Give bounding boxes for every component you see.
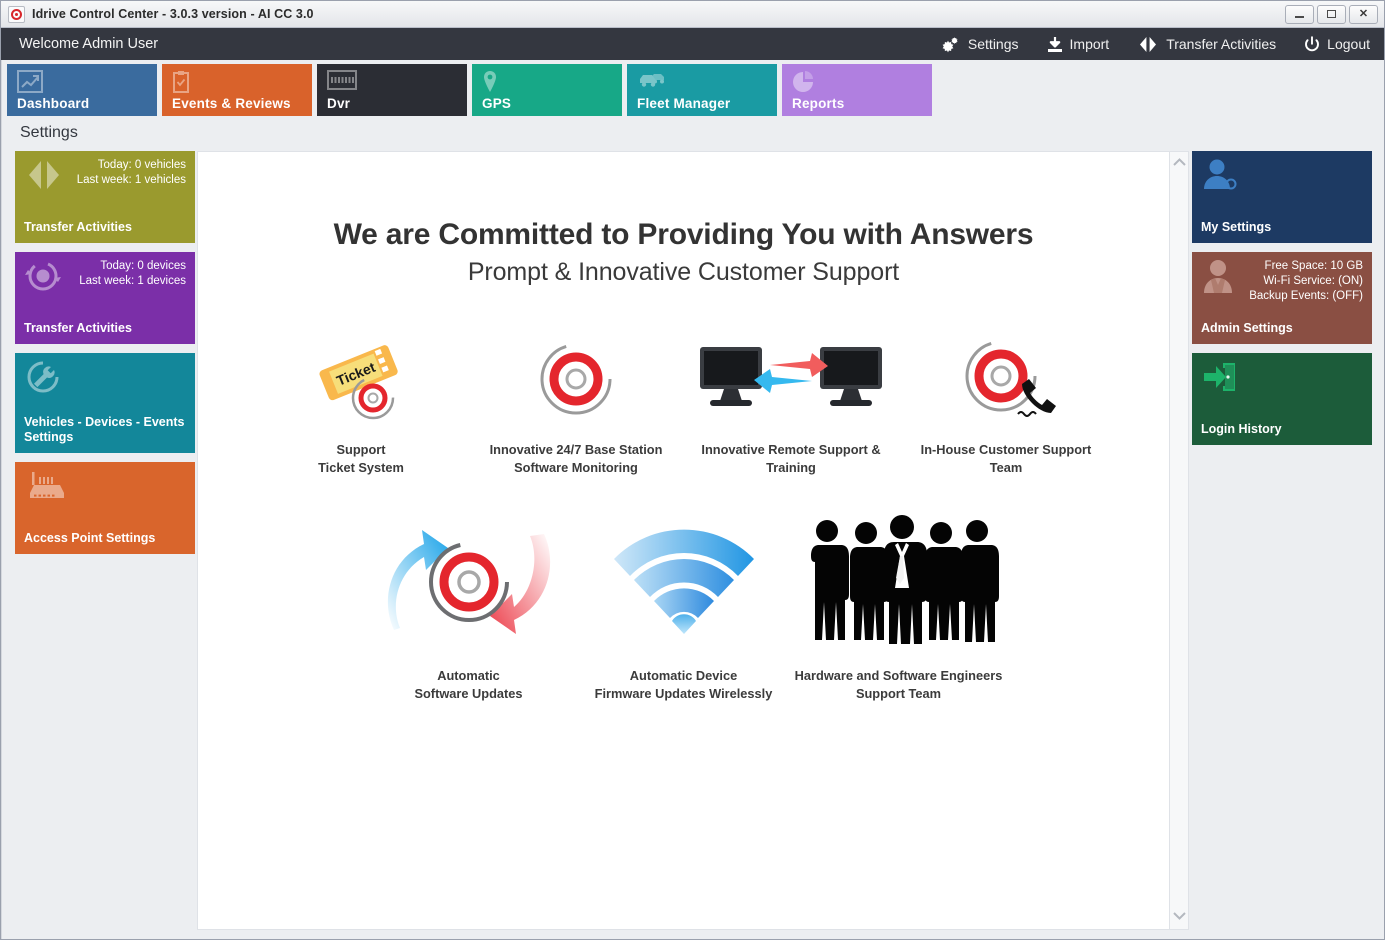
welcome-message: Welcome Admin User <box>19 36 158 52</box>
stat-line: Last week: 1 devices <box>79 274 186 289</box>
wrench-icon <box>24 360 62 399</box>
caption-line-2: Training <box>701 459 880 477</box>
feature-caption: Innovative 24/7 Base Station Software Mo… <box>490 441 663 477</box>
update-arrows-ring-icon <box>374 507 564 657</box>
sidebar-item-label: Transfer Activities <box>24 211 186 235</box>
tab-events-reviews[interactable]: Events & Reviews <box>162 64 312 116</box>
caption-line-1: Hardware and Software Engineers <box>795 667 1003 685</box>
feature-automatic-firmware-updates: Automatic Device Firmware Updates Wirele… <box>576 507 791 703</box>
transfer-arrows-icon <box>1137 36 1159 53</box>
stat-line: Wi-Fi Service: (ON) <box>1249 274 1363 289</box>
header-settings-label: Settings <box>968 36 1019 52</box>
header-settings-button[interactable]: Settings <box>941 36 1019 53</box>
tab-gps[interactable]: GPS <box>472 64 622 116</box>
tab-dashboard-label: Dashboard <box>17 96 89 111</box>
transfer-arrows-icon <box>24 158 64 197</box>
sidebar-item-stats: Today: 0 devices Last week: 1 devices <box>79 259 186 289</box>
minimize-button[interactable] <box>1285 5 1314 24</box>
remote-monitors-icon <box>696 327 886 431</box>
tab-dvr[interactable]: Dvr <box>317 64 467 116</box>
caption-line-1: Innovative Remote Support & <box>701 441 880 459</box>
chevron-up-icon[interactable] <box>1173 158 1186 169</box>
sidebar-item-label: Login History <box>1201 413 1363 437</box>
sidebar-item-login-history[interactable]: Login History <box>1192 353 1372 445</box>
sidebar-item-label: Admin Settings <box>1201 312 1363 336</box>
features-grid: Ticket Support Ticket Syste <box>198 327 1169 703</box>
stat-line: Last week: 1 vehicles <box>77 173 186 188</box>
caption-line-1: Support <box>318 441 404 459</box>
module-tab-bar: Dashboard Events & Reviews <box>2 60 1384 116</box>
content-panel: We are Committed to Providing You with A… <box>197 151 1170 930</box>
sidebar-item-my-settings[interactable]: My Settings <box>1192 151 1372 243</box>
tab-fleet-manager-label: Fleet Manager <box>637 96 730 111</box>
caption-line-2: Team <box>921 459 1092 477</box>
feature-in-house-support-team: In-House Customer Support Team <box>899 327 1114 477</box>
tab-fleet-manager[interactable]: Fleet Manager <box>627 64 777 116</box>
main-area: Today: 0 vehicles Last week: 1 vehicles … <box>2 151 1384 939</box>
sidebar-item-access-point-settings[interactable]: Access Point Settings <box>15 462 195 554</box>
tab-reports[interactable]: Reports <box>782 64 932 116</box>
feature-caption: In-House Customer Support Team <box>921 441 1092 477</box>
feature-caption: Automatic Software Updates <box>414 667 522 703</box>
features-row-2: Automatic Software Updates <box>198 507 1169 703</box>
tab-gps-label: GPS <box>482 96 511 111</box>
feature-hardware-software-engineers: Hardware and Software Engineers Support … <box>791 507 1006 703</box>
stat-line: Today: 0 devices <box>79 259 186 274</box>
sidebar-item-label: Transfer Activities <box>24 312 186 336</box>
top-header-bar: Welcome Admin User Settings <box>1 28 1384 60</box>
power-icon <box>1304 36 1320 53</box>
feature-base-station-monitoring: Innovative 24/7 Base Station Software Mo… <box>469 327 684 477</box>
hero-section: We are Committed to Providing You with A… <box>198 152 1169 287</box>
download-icon <box>1047 36 1063 53</box>
map-pin-icon <box>482 70 498 99</box>
stat-line: Free Space: 10 GB <box>1249 259 1363 274</box>
caption-line-2: Software Monitoring <box>490 459 663 477</box>
tab-events-reviews-label: Events & Reviews <box>172 96 291 111</box>
left-sidebar: Today: 0 vehicles Last week: 1 vehicles … <box>2 151 197 930</box>
feature-caption: Automatic Device Firmware Updates Wirele… <box>595 667 773 703</box>
header-import-label: Import <box>1070 36 1110 52</box>
people-group-icon <box>799 507 999 657</box>
caption-line-2: Firmware Updates Wirelessly <box>595 685 773 703</box>
video-recorder-icon <box>327 70 357 95</box>
header-import-button[interactable]: Import <box>1047 36 1110 53</box>
title-bar: Idrive Control Center - 3.0.3 version - … <box>1 1 1384 28</box>
sidebar-item-device-transfer-activities[interactable]: Today: 0 devices Last week: 1 devices Tr… <box>15 252 195 344</box>
caption-line-1: In-House Customer Support <box>921 441 1092 459</box>
vehicles-icon <box>637 70 667 95</box>
router-icon <box>24 469 68 508</box>
device-sync-icon <box>24 259 62 298</box>
base-station-ring-icon <box>531 327 621 431</box>
stat-line: Today: 0 vehicles <box>77 158 186 173</box>
caption-line-1: Innovative 24/7 Base Station <box>490 441 663 459</box>
wifi-signal-icon <box>604 507 764 657</box>
gears-icon <box>941 36 961 53</box>
caption-line-1: Automatic <box>414 667 522 685</box>
feature-remote-support-training: Innovative Remote Support & Training <box>684 327 899 477</box>
header-transfer-label: Transfer Activities <box>1166 36 1276 52</box>
phone-ring-icon <box>956 327 1056 431</box>
stat-line: Backup Events: (OFF) <box>1249 289 1363 304</box>
admin-user-icon <box>1201 259 1235 300</box>
breadcrumb: Settings <box>2 116 1384 151</box>
caption-line-2: Support Team <box>795 685 1003 703</box>
tab-dvr-label: Dvr <box>327 96 350 111</box>
sidebar-item-stats: Free Space: 10 GB Wi-Fi Service: (ON) Ba… <box>1249 259 1363 304</box>
sidebar-item-vehicle-transfer-activities[interactable]: Today: 0 vehicles Last week: 1 vehicles … <box>15 151 195 243</box>
caption-line-2: Software Updates <box>414 685 522 703</box>
feature-caption: Hardware and Software Engineers Support … <box>795 667 1003 703</box>
sidebar-item-stats: Today: 0 vehicles Last week: 1 vehicles <box>77 158 186 188</box>
close-button[interactable]: ✕ <box>1349 5 1378 24</box>
feature-support-ticket-system: Ticket Support Ticket Syste <box>254 327 469 477</box>
header-logout-button[interactable]: Logout <box>1304 36 1370 53</box>
header-transfer-activities-button[interactable]: Transfer Activities <box>1137 36 1276 53</box>
sidebar-item-label: My Settings <box>1201 211 1363 235</box>
maximize-button[interactable] <box>1317 5 1346 24</box>
login-door-icon <box>1201 360 1239 399</box>
caption-line-1: Automatic Device <box>595 667 773 685</box>
caption-line-2: Ticket System <box>318 459 404 477</box>
page-subheadline: Prompt & Innovative Customer Support <box>198 258 1169 287</box>
content-scrollbar[interactable] <box>1170 151 1189 930</box>
application-body: Dashboard Events & Reviews <box>1 60 1384 939</box>
window-title: Idrive Control Center - 3.0.3 version - … <box>32 7 314 21</box>
chart-line-icon <box>17 70 43 98</box>
chevron-down-icon[interactable] <box>1173 912 1186 923</box>
right-sidebar: My Settings Free Space: 10 GB <box>1189 151 1384 930</box>
sidebar-item-admin-settings[interactable]: Free Space: 10 GB Wi-Fi Service: (ON) Ba… <box>1192 252 1372 344</box>
feature-caption: Support Ticket System <box>318 441 404 477</box>
sidebar-item-vehicles-devices-events-settings[interactable]: Vehicles - Devices - Events Settings <box>15 353 195 453</box>
page-headline: We are Committed to Providing You with A… <box>198 218 1169 252</box>
tab-reports-label: Reports <box>792 96 844 111</box>
window-controls: ✕ <box>1285 5 1382 24</box>
sidebar-item-label: Access Point Settings <box>24 522 186 546</box>
support-ticket-icon: Ticket <box>311 327 411 431</box>
application-window: Idrive Control Center - 3.0.3 version - … <box>0 0 1385 940</box>
tab-dashboard[interactable]: Dashboard <box>7 64 157 116</box>
header-actions: Settings Import Transf <box>941 36 1370 53</box>
features-row-1: Ticket Support Ticket Syste <box>198 327 1169 477</box>
sidebar-item-label: Vehicles - Devices - Events Settings <box>24 406 186 445</box>
clipboard-check-icon <box>172 70 190 98</box>
pie-chart-icon <box>792 70 816 99</box>
header-logout-label: Logout <box>1327 36 1370 52</box>
content-region: We are Committed to Providing You with A… <box>197 151 1189 930</box>
user-gear-icon <box>1201 158 1239 197</box>
app-logo-icon <box>8 6 25 23</box>
feature-caption: Innovative Remote Support & Training <box>701 441 880 477</box>
feature-automatic-software-updates: Automatic Software Updates <box>361 507 576 703</box>
